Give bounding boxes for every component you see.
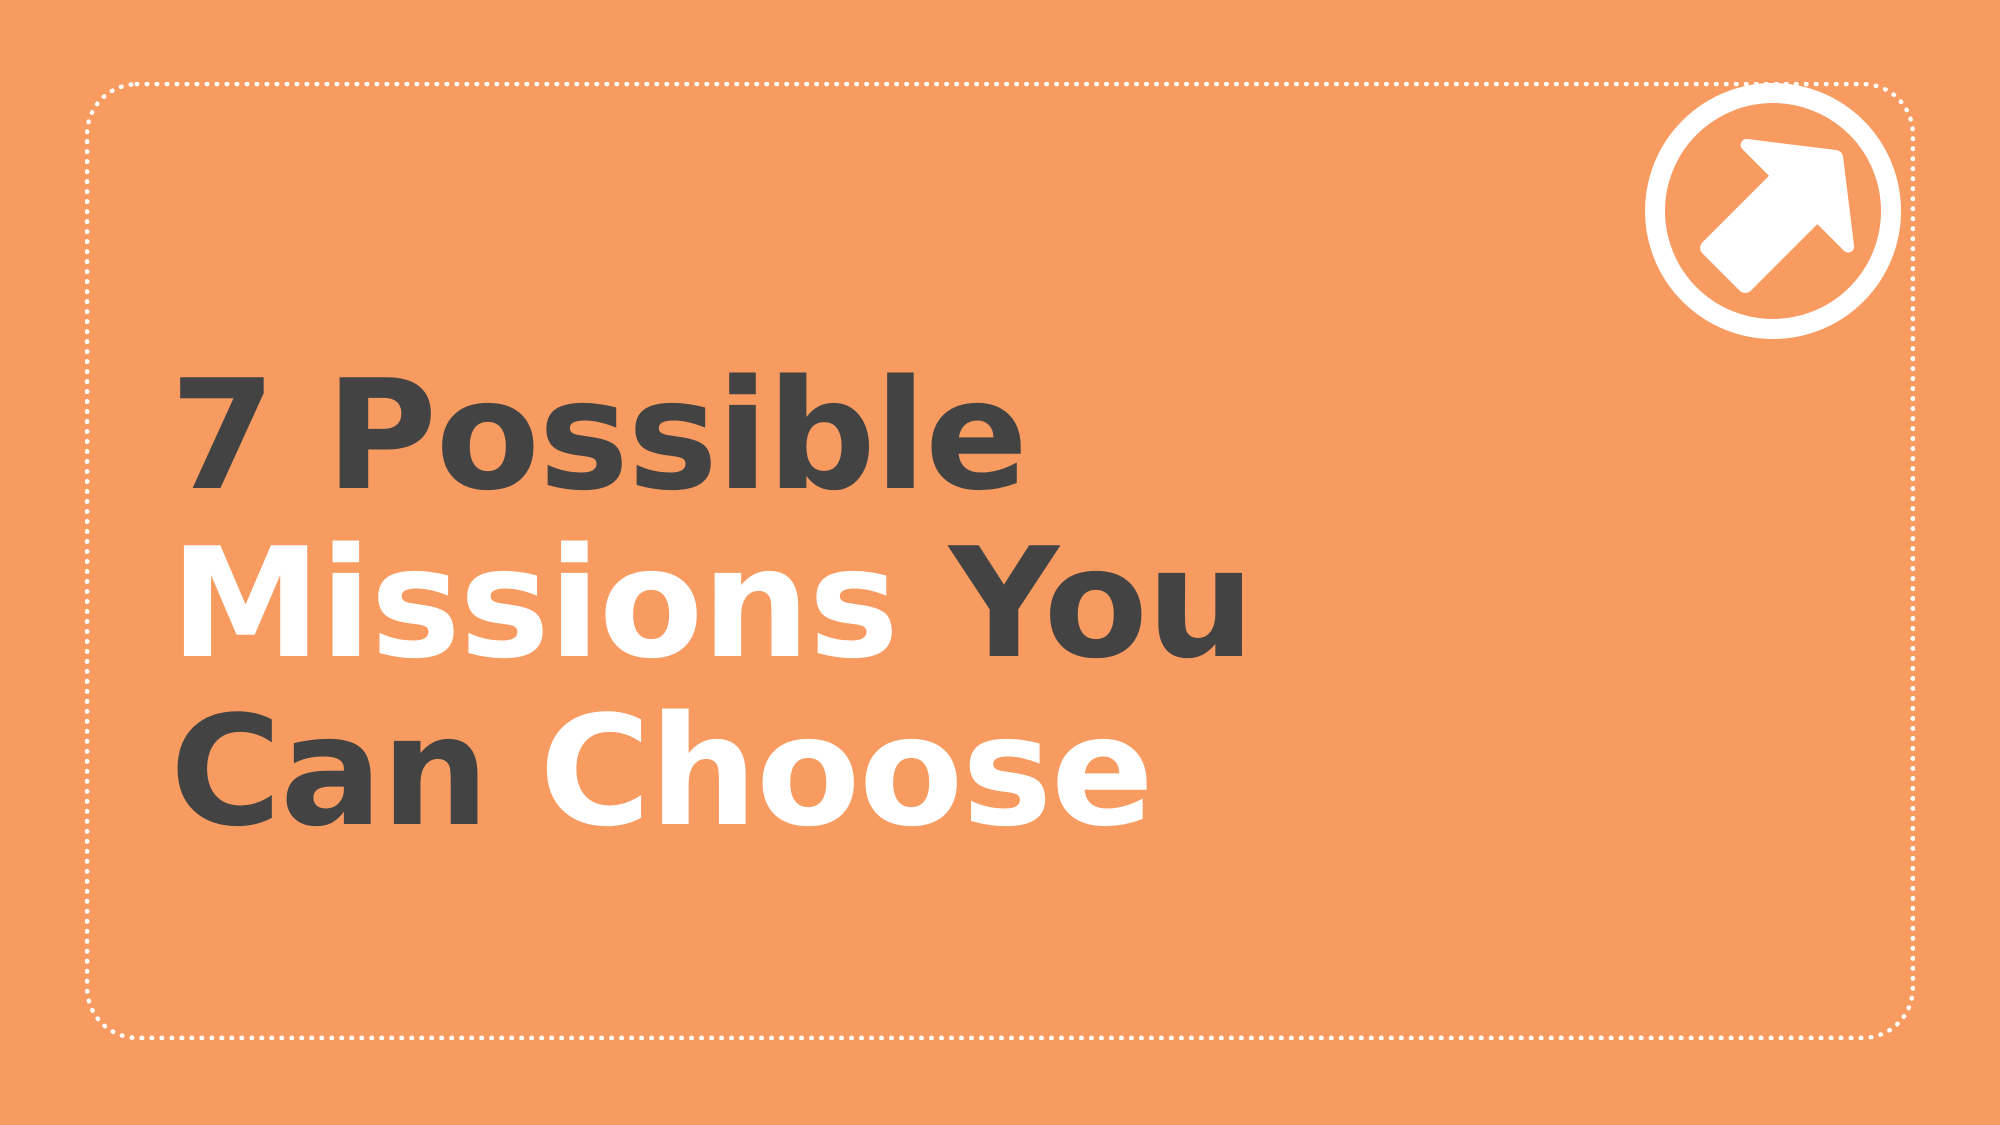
headline-line-1: 7 Possible (170, 352, 1490, 520)
slide-canvas: 7 Possible Missions You Can Choose (0, 0, 2000, 1125)
headline-segment-light: Missions (170, 515, 898, 692)
headline-segment-dark: 7 Possible (170, 347, 1027, 524)
headline-segment-light: Choose (539, 683, 1152, 860)
headline-line-2: Missions You (170, 520, 1490, 688)
headline-line-3: Can Choose (170, 688, 1490, 856)
headline-segment-dark: You (949, 515, 1253, 692)
headline-segment-dark: Can (170, 683, 488, 860)
page-title: 7 Possible Missions You Can Choose (170, 352, 1490, 856)
arrow-up-right-circle-icon[interactable] (1636, 74, 1910, 348)
